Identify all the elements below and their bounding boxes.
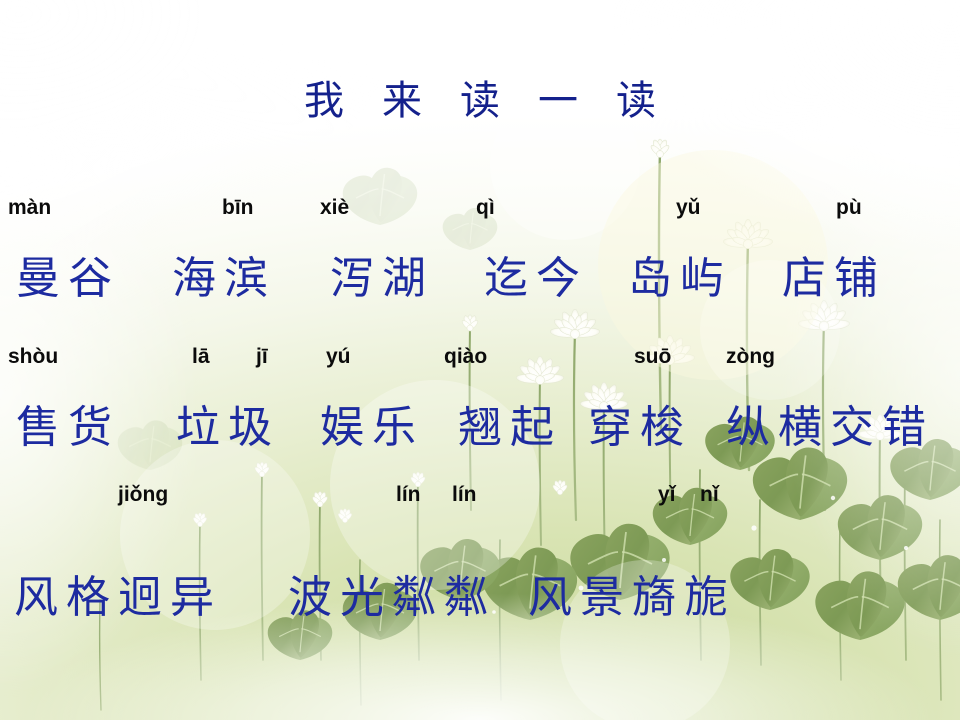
word-yule: 娱乐 <box>320 391 424 455</box>
pinyin-row-1: màn bīn xiè qì yǔ pù <box>0 196 960 226</box>
pinyin-zong: zòng <box>726 345 775 369</box>
pinyin-qi: qì <box>476 196 495 220</box>
pinyin-yu: yǔ <box>676 196 701 220</box>
pinyin-yu2: yú <box>326 345 351 369</box>
pinyin-suo: suō <box>634 345 671 369</box>
pinyin-pu: pù <box>836 196 862 220</box>
word-line-2: shòu lā jī yú qiào suō zòng 售货 垃圾 娱乐 翘起 … <box>0 345 960 453</box>
pinyin-lin1: lín <box>396 483 421 507</box>
word-zonghengjiaocuo: 纵横交错 <box>726 391 934 455</box>
pinyin-bin: bīn <box>222 196 254 220</box>
pinyin-la: lā <box>192 345 210 369</box>
word-xiehu: 泻湖 <box>330 242 434 306</box>
pinyin-lin2: lín <box>452 483 477 507</box>
pinyin-row-2: shòu lā jī yú qiào suō zòng <box>0 345 960 375</box>
page-title: 我 来 读 一 读 <box>0 68 960 126</box>
word-shouhuo: 售货 <box>16 391 120 455</box>
hanzi-row-1: 曼谷 海滨 泻湖 迄今 岛屿 店铺 <box>0 242 960 304</box>
word-line-3: jiǒng lín lín yǐ nǐ 风格迥异 波光粼粼 风景旖旎 <box>0 483 960 623</box>
word-dianpu: 店铺 <box>782 242 886 306</box>
pinyin-ni: nǐ <box>700 483 719 507</box>
word-qiaoqi: 翘起 <box>458 391 562 455</box>
pinyin-shou: shòu <box>8 345 58 369</box>
hanzi-row-3: 风格迥异 波光粼粼 风景旖旎 <box>0 561 960 623</box>
word-boguanglinlin: 波光粼粼 <box>288 561 496 625</box>
pinyin-jiong: jiǒng <box>118 483 168 507</box>
pinyin-yi: yǐ <box>658 483 676 507</box>
word-daoyu: 岛屿 <box>628 242 732 306</box>
hanzi-row-2: 售货 垃圾 娱乐 翘起 穿梭 纵横交错 <box>0 391 960 453</box>
word-haibin: 海滨 <box>172 242 276 306</box>
pinyin-qiao: qiào <box>444 345 487 369</box>
pinyin-man: màn <box>8 196 51 220</box>
word-fengjingyini: 风景旖旎 <box>528 561 736 625</box>
slide-canvas: 我 来 读 一 读 màn bīn xiè qì yǔ pù 曼谷 海滨 泻湖 … <box>0 0 960 720</box>
word-mangu: 曼谷 <box>16 242 120 306</box>
pinyin-ji: jī <box>256 345 268 369</box>
pinyin-row-3: jiǒng lín lín yǐ nǐ <box>0 483 960 513</box>
word-chuansuo: 穿梭 <box>588 391 692 455</box>
word-line-1: màn bīn xiè qì yǔ pù 曼谷 海滨 泻湖 迄今 岛屿 店铺 <box>0 196 960 304</box>
word-qijin: 迄今 <box>484 242 588 306</box>
word-fenggejiongyi: 风格迥异 <box>14 561 222 625</box>
word-laji: 垃圾 <box>176 391 280 455</box>
pinyin-xie: xiè <box>320 196 349 220</box>
